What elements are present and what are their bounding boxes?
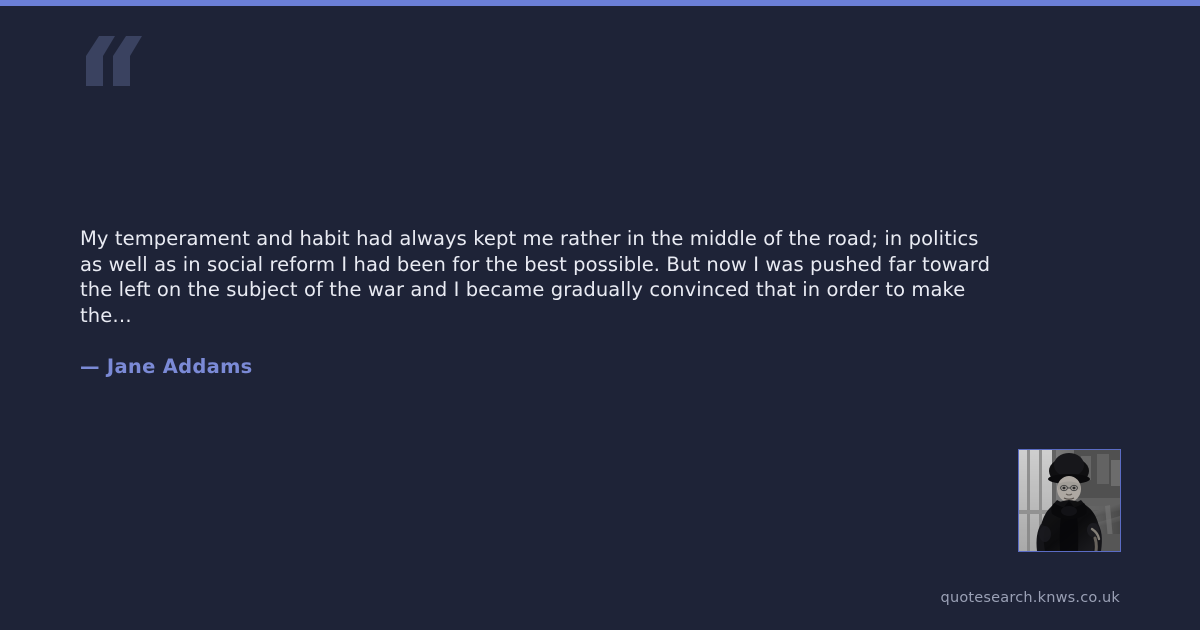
quote-body: My temperament and habit had always kept… bbox=[80, 226, 1000, 328]
footer-url[interactable]: quotesearch.knws.co.uk bbox=[941, 590, 1120, 606]
quote-attribution: — Jane Addams bbox=[80, 355, 253, 378]
quote-card: My temperament and habit had always kept… bbox=[0, 0, 1200, 630]
author-portrait bbox=[1019, 450, 1120, 551]
top-accent-bar bbox=[0, 0, 1200, 6]
quote-text: My temperament and habit had always kept… bbox=[80, 226, 1000, 328]
open-quote-icon bbox=[80, 36, 150, 86]
